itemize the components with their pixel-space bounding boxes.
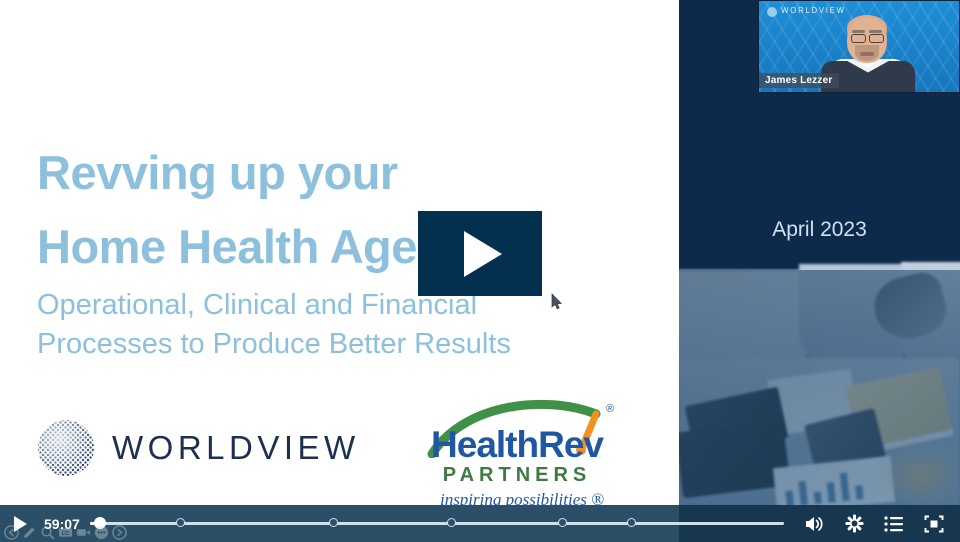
chapter-marker[interactable]	[329, 518, 338, 527]
speaker-glasses-right	[869, 34, 884, 43]
webcam-brand-label: WORLDVIEW	[781, 6, 846, 15]
speaker-brow-right	[869, 30, 882, 33]
gear-icon[interactable]	[834, 505, 874, 542]
healthrev-partners-logo: ® HealthRev PARTNERS inspiring possibili…	[424, 398, 624, 510]
svg-text:®: ®	[606, 403, 614, 415]
worldview-logo: WORLDVIEW	[38, 420, 360, 476]
closed-caption-icon[interactable]: CC	[57, 524, 73, 540]
volume-icon[interactable]	[794, 505, 834, 542]
speaker-glasses-left	[851, 34, 866, 43]
magnifier-icon[interactable]	[39, 524, 55, 540]
photo-blue-tint	[679, 270, 960, 505]
healthrev-wordmark: HealthRev	[424, 424, 610, 466]
fullscreen-icon[interactable]	[914, 505, 954, 542]
slide-title: Revving up your Home Health Agency	[37, 136, 637, 284]
globe-icon	[767, 7, 777, 17]
meeting-photo	[679, 270, 960, 505]
play-overlay-button[interactable]	[418, 211, 542, 296]
play-icon	[464, 231, 502, 277]
chapter-marker[interactable]	[627, 518, 636, 527]
svg-text:CC: CC	[61, 530, 69, 536]
progress-track	[90, 522, 784, 525]
globe-dot-pattern	[38, 420, 94, 476]
slide-subtitle: Operational, Clinical and Financial Proc…	[37, 286, 627, 364]
pencil-icon[interactable]	[21, 524, 37, 540]
playlist-icon[interactable]	[874, 505, 914, 542]
annotation-toolbar[interactable]: CC	[0, 522, 128, 542]
chapter-marker[interactable]	[176, 518, 185, 527]
dotted-globe-icon	[38, 420, 94, 476]
chapter-marker[interactable]	[447, 518, 456, 527]
chapter-marker[interactable]	[558, 518, 567, 527]
slide-right-panel: April 2023	[679, 0, 960, 505]
speaker-mouth	[860, 52, 874, 56]
speaker-brow-left	[852, 30, 865, 33]
forward-arrow-icon[interactable]	[111, 524, 127, 540]
video-camera-icon[interactable]	[75, 524, 91, 540]
slide-date: April 2023	[679, 218, 960, 242]
speaker-webcam-thumbnail[interactable]: WORLDVIEW James Lezzer	[758, 0, 960, 93]
video-control-bar[interactable]: 59:07	[0, 505, 960, 542]
slide-canvas: Revving up your Home Health Agency Opera…	[0, 0, 679, 505]
worldview-wordmark: WORLDVIEW	[112, 429, 360, 467]
video-player[interactable]: Revving up your Home Health Agency Opera…	[0, 0, 960, 542]
partners-wordmark: PARTNERS	[424, 464, 610, 487]
back-arrow-icon[interactable]	[3, 524, 19, 540]
ellipsis-icon[interactable]	[93, 524, 109, 540]
progress-bar[interactable]	[90, 505, 784, 542]
speaker-name-label: James Lezzer	[759, 73, 839, 88]
